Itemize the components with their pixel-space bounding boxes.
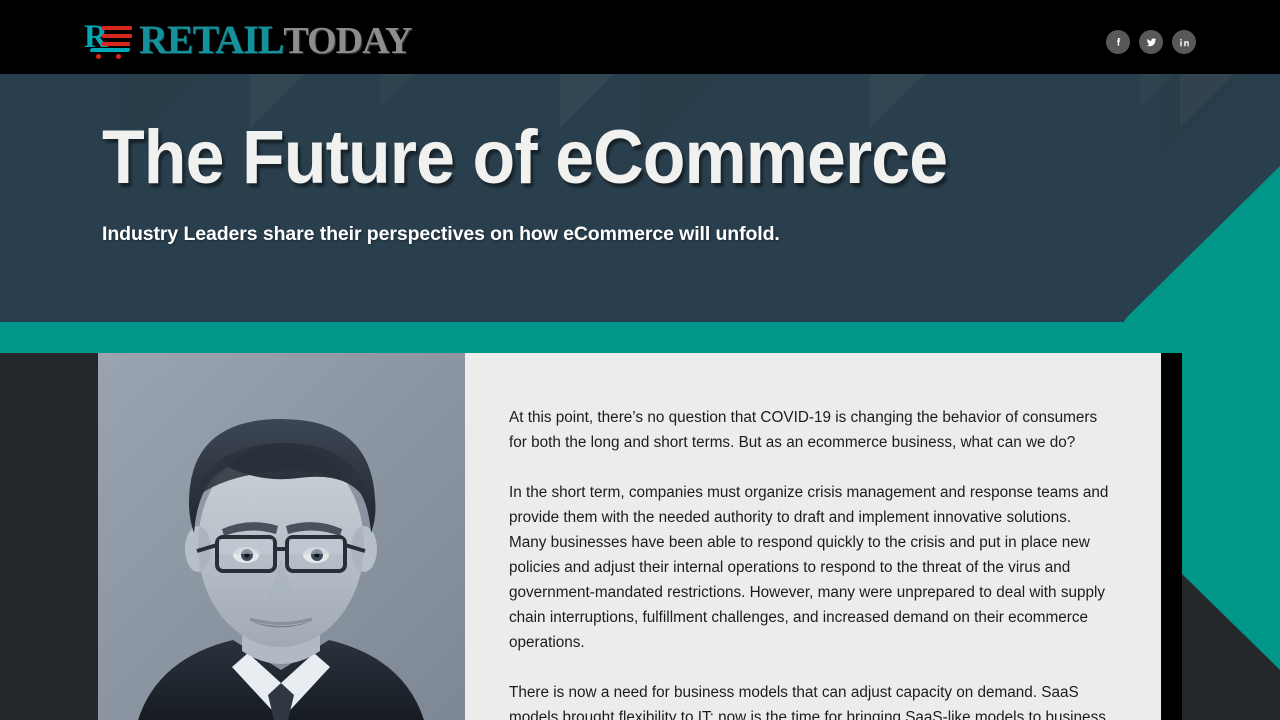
page-root: R RETAIL TODAY — [0, 0, 1280, 720]
cart-wheel-left — [96, 54, 101, 59]
social-link-linkedin[interactable] — [1172, 30, 1196, 54]
right-black-strip — [1161, 353, 1182, 720]
cart-bar-3 — [102, 42, 130, 46]
social-link-facebook[interactable] — [1106, 30, 1130, 54]
brand-wordmark-today: TODAY — [283, 19, 411, 63]
article-paragraph: In the short term, companies must organi… — [509, 480, 1111, 655]
article-body: At this point, there’s no question that … — [465, 353, 1161, 720]
cart-base — [90, 48, 131, 52]
facebook-icon — [1112, 36, 1125, 49]
page-title: The Future of eCommerce — [102, 118, 1186, 197]
article-card: At this point, there’s no question that … — [465, 353, 1161, 720]
cart-bar-2 — [102, 34, 132, 38]
hero-content: The Future of eCommerce Industry Leaders… — [0, 118, 1280, 246]
site-header: R RETAIL TODAY — [0, 0, 1280, 74]
linkedin-icon — [1178, 36, 1191, 49]
hero-banner: The Future of eCommerce Industry Leaders… — [0, 74, 1280, 322]
teal-accent-band — [0, 322, 1280, 353]
brand-wordmark: RETAIL TODAY — [139, 16, 411, 63]
article-paragraph: At this point, there’s no question that … — [509, 405, 1111, 455]
portrait-illustration — [98, 353, 465, 720]
brand-logo-link[interactable]: R RETAIL TODAY — [84, 16, 411, 63]
shopping-cart-logo-icon: R — [84, 20, 132, 60]
brand-wordmark-retail: RETAIL — [139, 16, 283, 63]
page-subtitle: Industry Leaders share their perspective… — [102, 223, 1280, 246]
article-paragraph: There is now a need for business models … — [509, 680, 1111, 720]
cart-bar-1 — [102, 26, 132, 30]
social-links — [1106, 30, 1196, 54]
twitter-icon — [1145, 36, 1158, 49]
author-portrait — [98, 353, 465, 720]
cart-wheel-right — [116, 54, 121, 59]
social-link-twitter[interactable] — [1139, 30, 1163, 54]
